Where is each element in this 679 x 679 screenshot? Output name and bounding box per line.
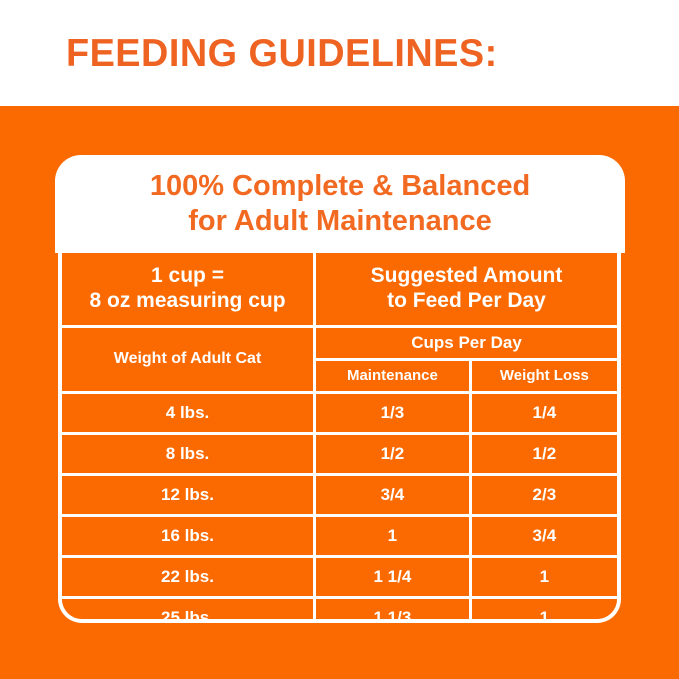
maintenance-subheader: Maintenance <box>315 360 471 393</box>
table-header-row-top: 1 cup = 8 oz measuring cup Suggested Amo… <box>62 253 617 327</box>
feeding-table-grid: 1 cup = 8 oz measuring cup Suggested Amo… <box>62 253 617 623</box>
row-weight-loss: 3/4 <box>470 516 617 557</box>
table-row: 25 lbs. 1 1/3 1 <box>62 598 617 624</box>
row-maintenance: 1/2 <box>315 434 471 475</box>
table-header-row-cups: Weight of Adult Cat Cups Per Day <box>62 327 617 360</box>
row-maintenance: 3/4 <box>315 475 471 516</box>
title-band: FEEDING GUIDELINES: <box>0 0 679 106</box>
row-maintenance: 1 1/4 <box>315 557 471 598</box>
row-weight: 22 lbs. <box>62 557 315 598</box>
suggested-line-1: Suggested Amount <box>316 264 617 289</box>
feeding-table: 1 cup = 8 oz measuring cup Suggested Amo… <box>58 253 621 623</box>
row-weight-loss: 1/2 <box>470 434 617 475</box>
row-weight: 4 lbs. <box>62 393 315 434</box>
orange-background-panel: 100% Complete & Balanced for Adult Maint… <box>0 106 679 679</box>
suggested-line-2: to Feed Per Day <box>316 289 617 314</box>
headline-card: 100% Complete & Balanced for Adult Maint… <box>55 155 625 253</box>
table-row: 8 lbs. 1/2 1/2 <box>62 434 617 475</box>
row-weight-loss: 2/3 <box>470 475 617 516</box>
row-weight-loss: 1 <box>470 557 617 598</box>
table-row: 4 lbs. 1/3 1/4 <box>62 393 617 434</box>
row-weight: 8 lbs. <box>62 434 315 475</box>
row-weight-loss: 1/4 <box>470 393 617 434</box>
row-weight: 12 lbs. <box>62 475 315 516</box>
row-weight: 16 lbs. <box>62 516 315 557</box>
row-maintenance: 1/3 <box>315 393 471 434</box>
weight-loss-subheader: Weight Loss <box>470 360 617 393</box>
headline-line-1: 100% Complete & Balanced <box>150 169 530 204</box>
cup-note-line-2: 8 oz measuring cup <box>62 289 313 314</box>
page-title: FEEDING GUIDELINES: <box>66 34 498 73</box>
cup-note-line-1: 1 cup = <box>62 264 313 289</box>
table-row: 16 lbs. 1 3/4 <box>62 516 617 557</box>
headline-line-2: for Adult Maintenance <box>188 204 491 239</box>
row-weight: 25 lbs. <box>62 598 315 624</box>
row-maintenance: 1 1/3 <box>315 598 471 624</box>
feeding-guidelines-page: FEEDING GUIDELINES: 100% Complete & Bala… <box>0 0 679 679</box>
row-weight-loss: 1 <box>470 598 617 624</box>
table-row: 12 lbs. 3/4 2/3 <box>62 475 617 516</box>
row-maintenance: 1 <box>315 516 471 557</box>
table-row: 22 lbs. 1 1/4 1 <box>62 557 617 598</box>
suggested-amount-header: Suggested Amount to Feed Per Day <box>315 253 617 327</box>
cups-per-day-header: Cups Per Day <box>315 327 617 360</box>
weight-of-adult-cat-header: Weight of Adult Cat <box>62 327 315 393</box>
cup-equivalence-header: 1 cup = 8 oz measuring cup <box>62 253 315 327</box>
